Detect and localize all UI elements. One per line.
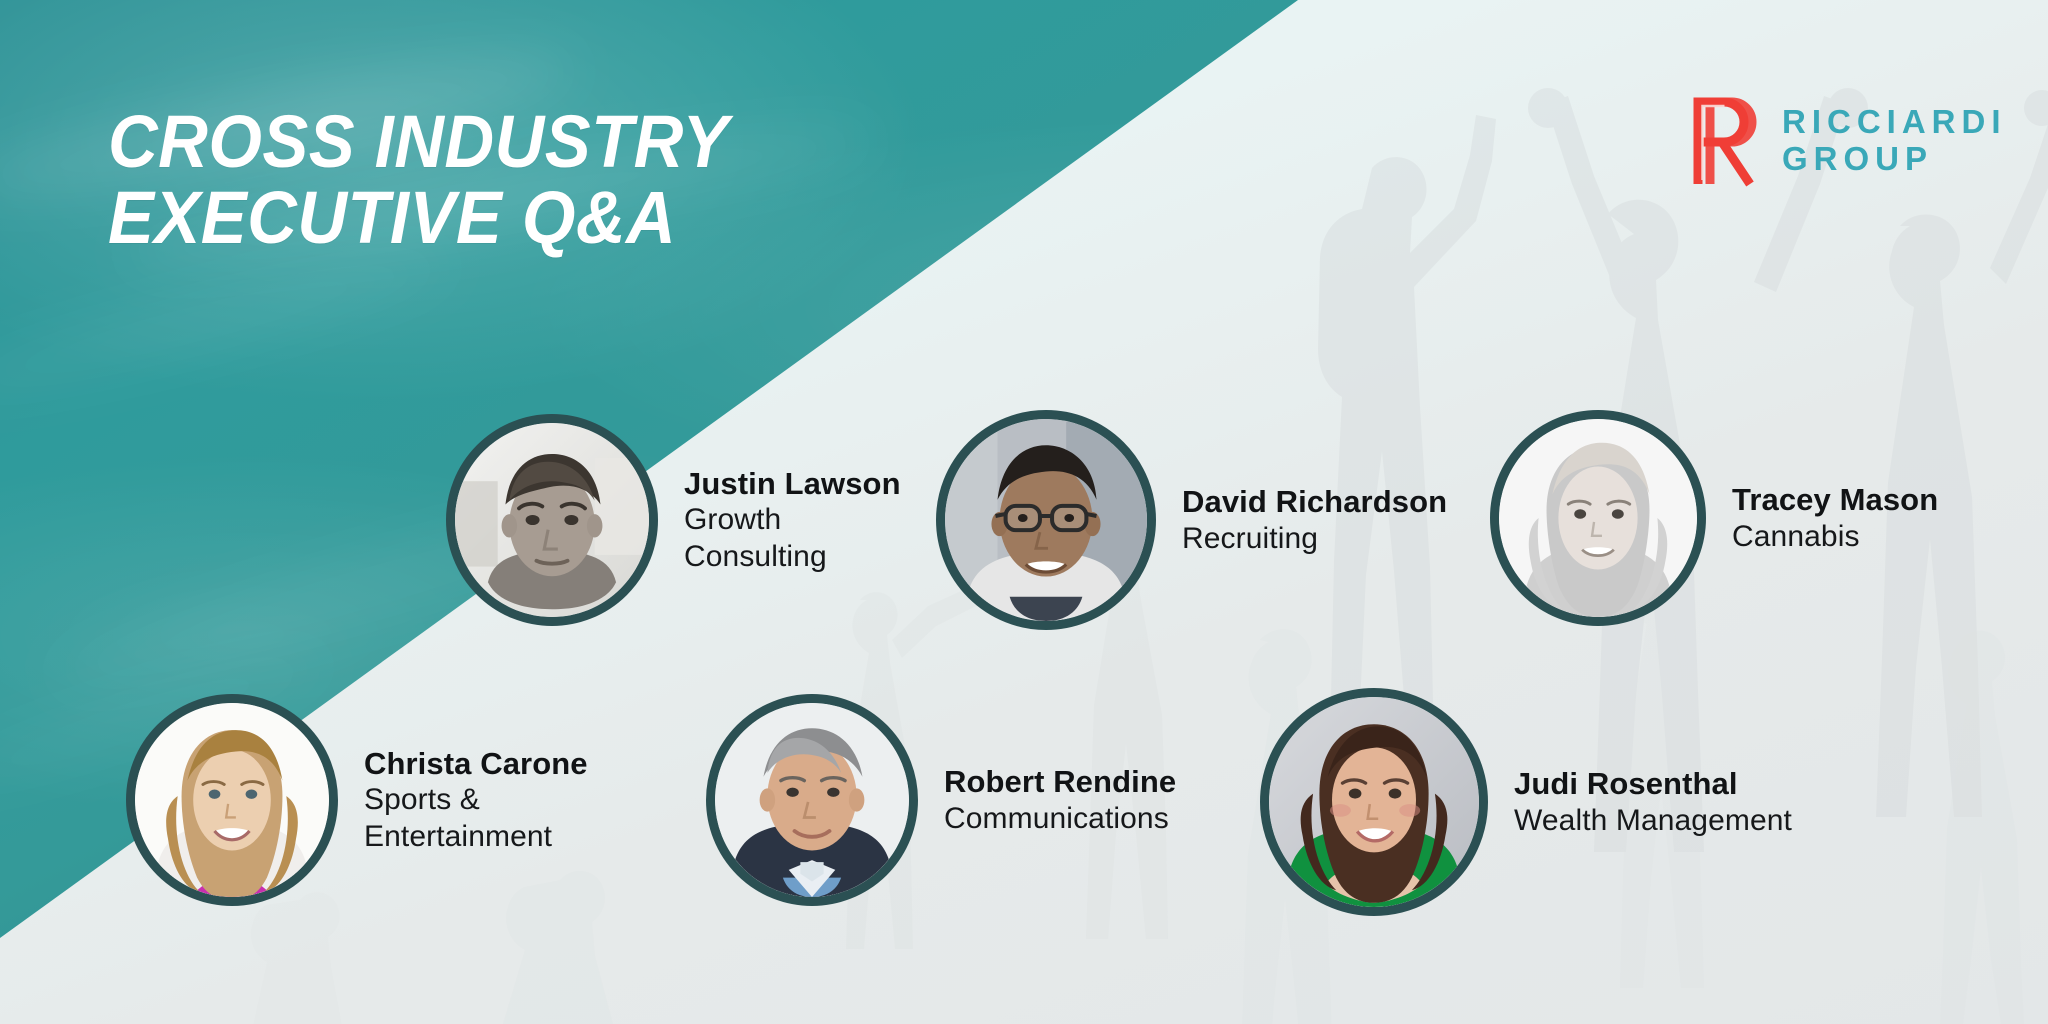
avatar	[1490, 410, 1706, 626]
speaker-card-justin-lawson[interactable]: Justin Lawson Growth Consulting	[446, 414, 901, 626]
avatar	[936, 410, 1156, 630]
speaker-name: Robert Rendine	[944, 763, 1176, 801]
speaker-card-tracey-mason[interactable]: Tracey Mason Cannabis	[1490, 410, 1938, 626]
speaker-role: Growth Consulting	[684, 502, 901, 575]
robert-rendine-headshot	[715, 703, 909, 897]
speaker-role: Sports & Entertainment	[364, 782, 588, 855]
logo-wordmark: RICCIARDI GROUP	[1782, 105, 2007, 175]
speaker-meta: Justin Lawson Growth Consulting	[684, 465, 901, 576]
speaker-role: Communications	[944, 801, 1176, 838]
speaker-card-christa-carone[interactable]: Christa Carone Sports & Entertainment	[126, 694, 588, 906]
speaker-name: Justin Lawson	[684, 465, 901, 503]
speaker-meta: Judi Rosenthal Wealth Management	[1514, 765, 1792, 839]
speaker-name: Tracey Mason	[1732, 481, 1938, 519]
speaker-card-judi-rosenthal[interactable]: Judi Rosenthal Wealth Management	[1260, 688, 1792, 916]
title-line-2: EXECUTIVE Q&A	[108, 184, 729, 252]
avatar	[446, 414, 658, 626]
ricciardi-group-logo[interactable]: RICCIARDI GROUP	[1686, 92, 2007, 188]
logo-line-1: RICCIARDI	[1782, 105, 2007, 138]
speaker-role: Recruiting	[1182, 521, 1447, 558]
speaker-card-david-richardson[interactable]: David Richardson Recruiting	[936, 410, 1447, 630]
title-line-1: CROSS INDUSTRY	[108, 100, 729, 183]
tracey-mason-headshot	[1499, 419, 1697, 617]
judi-rosenthal-headshot	[1269, 697, 1479, 907]
speaker-meta: Christa Carone Sports & Entertainment	[364, 745, 588, 856]
speaker-role: Wealth Management	[1514, 803, 1792, 840]
ricciardi-r-monogram-icon	[1686, 92, 1760, 188]
justin-lawson-headshot	[455, 423, 649, 617]
speaker-name: Judi Rosenthal	[1514, 765, 1792, 803]
avatar	[706, 694, 918, 906]
speaker-name: Christa Carone	[364, 745, 588, 783]
speaker-card-robert-rendine[interactable]: Robert Rendine Communications	[706, 694, 1176, 906]
avatar	[126, 694, 338, 906]
speaker-role: Cannabis	[1732, 519, 1938, 556]
speaker-meta: David Richardson Recruiting	[1182, 483, 1447, 557]
speaker-name: David Richardson	[1182, 483, 1447, 521]
christa-carone-headshot	[135, 703, 329, 897]
poster-canvas: CROSS INDUSTRY EXECUTIVE Q&A RICCIARDI G…	[0, 0, 2048, 1024]
avatar	[1260, 688, 1488, 916]
page-title: CROSS INDUSTRY EXECUTIVE Q&A	[108, 108, 729, 252]
david-richardson-headshot	[945, 419, 1147, 621]
logo-line-2: GROUP	[1782, 142, 2007, 175]
speaker-meta: Robert Rendine Communications	[944, 763, 1176, 837]
speaker-meta: Tracey Mason Cannabis	[1732, 481, 1938, 555]
